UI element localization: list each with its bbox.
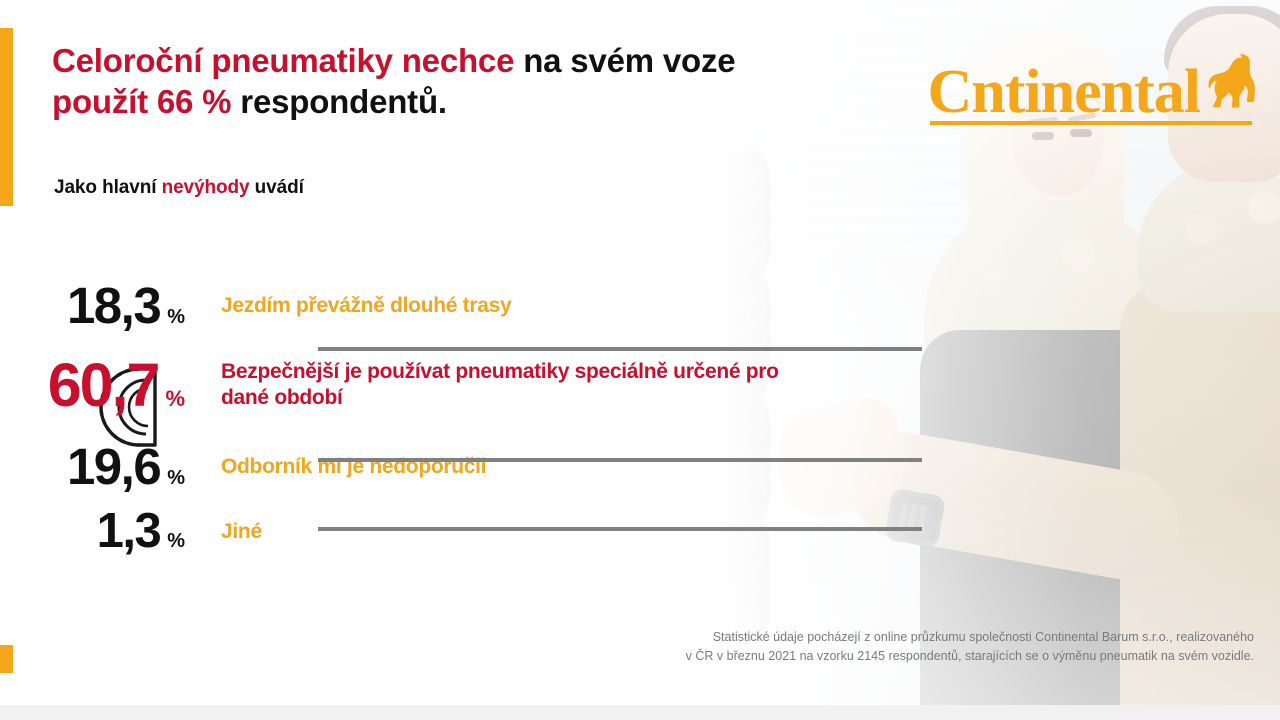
stat-percent-sign: % [167, 467, 185, 489]
subtitle: Jako hlavní nevýhody uvádí [54, 177, 304, 199]
logo-wordmark: Cntinental [928, 61, 1201, 123]
footnote-line-1: Statistické údaje pocházejí z online prů… [554, 628, 1254, 647]
stat-percent-sign: % [165, 386, 185, 411]
headline-segment-red: Celoroční pneumatiky nechce [52, 42, 514, 79]
stat-label: Bezpečnější je používat pneumatiky speci… [221, 359, 821, 411]
horse-icon [1202, 52, 1258, 119]
footnote: Statistické údaje pocházejí z online prů… [554, 628, 1254, 666]
footnote-line-2: v ČR v březnu 2021 na vzorku 2145 respon… [554, 647, 1254, 666]
subtitle-segment-red: nevýhody [162, 177, 250, 198]
stat-percent-sign: % [167, 306, 185, 328]
accent-bar-bottom [0, 645, 13, 673]
headline-segment-red-2: použít 66 % [52, 83, 231, 120]
row-divider [318, 527, 922, 531]
headline-segment-black-2: respondentů. [231, 83, 447, 120]
page-title: Celoroční pneumatiky nechce na svém voze… [52, 40, 742, 122]
bottom-strip [0, 705, 1280, 720]
stat-value: 60,7% [0, 355, 185, 416]
stat-row: 18,3% Jezdím převážně dlouhé trasy [0, 272, 960, 338]
stat-label: Jezdím převážně dlouhé trasy [221, 293, 511, 318]
stat-label: Jiné [221, 519, 262, 544]
stat-value: 1,3% [0, 507, 185, 556]
stat-percent-sign: % [167, 530, 185, 552]
row-divider [318, 458, 922, 462]
stat-row: 19,6% Odborník mi je nedoporučil [0, 432, 960, 500]
logo-text: ntinental [971, 58, 1200, 126]
stat-number: 18,3 [67, 277, 160, 334]
stat-row-highlighted: 60,7% Bezpečnější je používat pneumatiky… [0, 338, 960, 432]
stat-row: 1,3% Jiné [0, 500, 960, 562]
subtitle-segment-black-2: uvádí [249, 177, 303, 198]
headline-segment-black: na svém voze [514, 42, 735, 79]
logo-initial: C [928, 58, 972, 126]
subtitle-segment-black: Jako hlavní [54, 177, 162, 198]
stat-value: 18,3% [0, 280, 185, 331]
continental-logo: Cntinental [928, 52, 1259, 123]
accent-bar-top [0, 28, 13, 206]
stat-number: 60,7 [48, 351, 159, 419]
stat-number: 1,3 [97, 504, 161, 558]
stat-value: 19,6% [0, 441, 185, 492]
row-divider [318, 347, 922, 351]
stats-list: 18,3% Jezdím převážně dlouhé trasy 60,7%… [0, 272, 960, 562]
stat-number: 19,6 [67, 438, 160, 495]
